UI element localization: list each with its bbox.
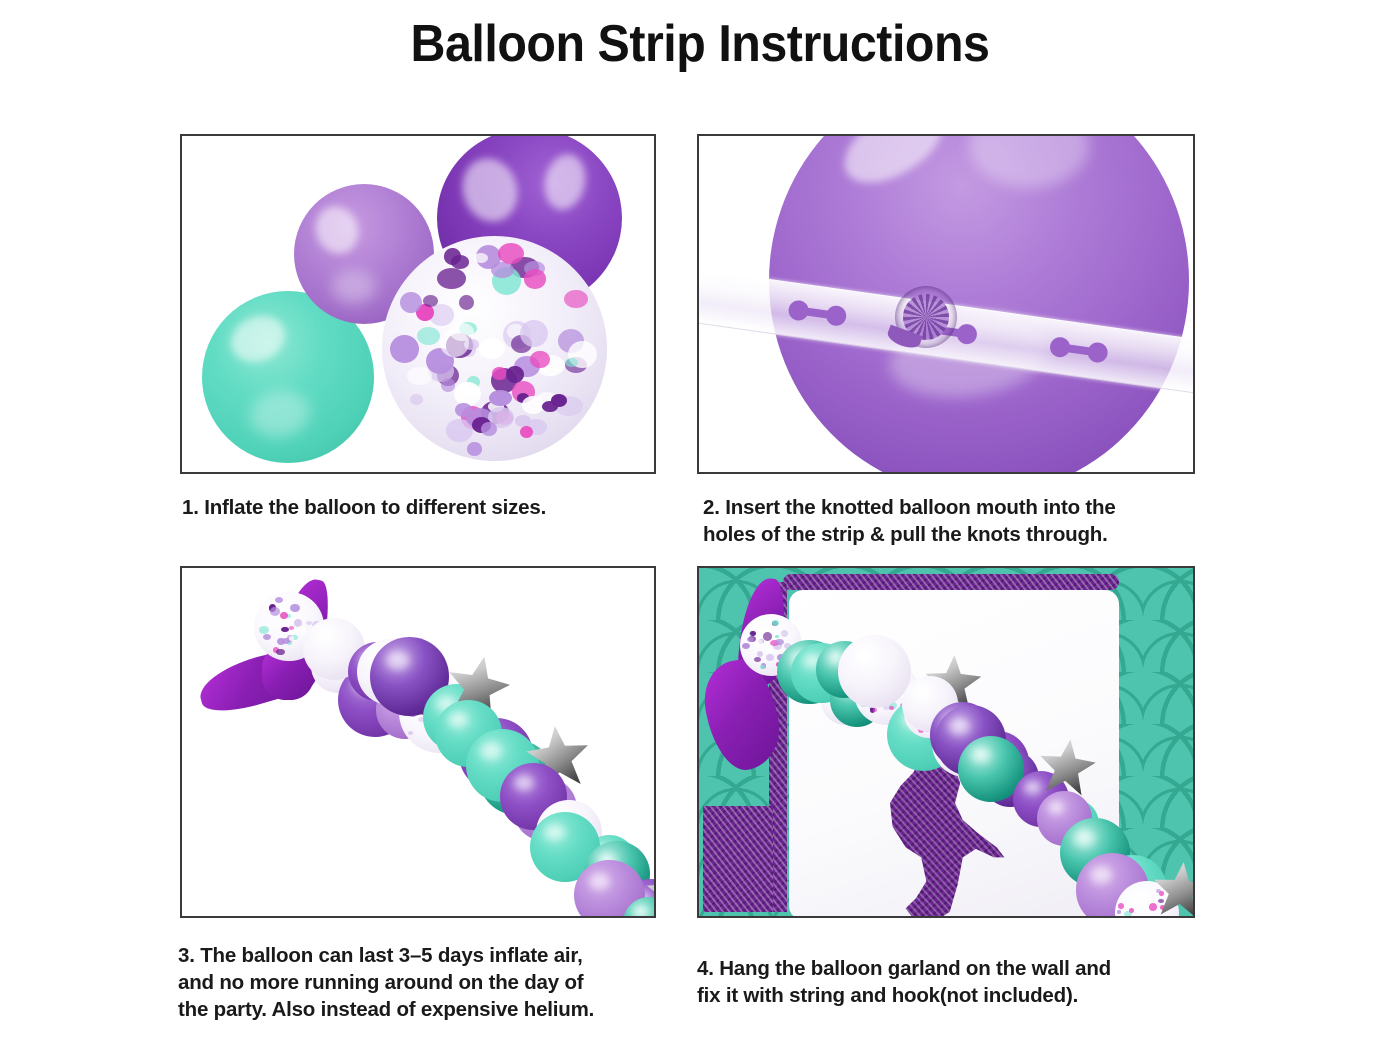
confetti-dot — [459, 295, 474, 310]
confetti-dot — [524, 269, 547, 289]
panel-step-3 — [180, 566, 656, 918]
confetti-dot — [767, 648, 772, 652]
confetti-dot — [479, 338, 505, 360]
confetti-dot — [263, 634, 272, 641]
confetti-dot — [451, 255, 470, 269]
balloon-highlight — [544, 824, 565, 841]
confetti-dot — [1156, 889, 1162, 893]
confetti-dot — [564, 290, 588, 308]
balloon-highlight — [223, 308, 292, 371]
confetti-dot — [481, 422, 497, 436]
confetti-dot — [489, 390, 512, 406]
instruction-sheet: Balloon Strip Instructions 1. Inflate th… — [0, 0, 1400, 1050]
strip-hole — [1049, 336, 1109, 364]
balloon-highlight — [246, 386, 313, 442]
confetti-dot — [889, 706, 894, 710]
confetti-dot — [281, 627, 289, 632]
confetti-dot — [390, 335, 419, 363]
confetti-dot — [437, 268, 466, 289]
confetti-dot — [742, 643, 750, 650]
garland-balloon — [838, 635, 911, 708]
confetti-dot — [1131, 891, 1140, 898]
confetti-dot — [276, 649, 284, 656]
strip-hole — [787, 299, 847, 327]
balloon-highlight — [853, 648, 875, 666]
balloon-highlight — [949, 718, 970, 735]
confetti-dot — [454, 382, 481, 406]
confetti-dot — [772, 620, 779, 626]
confetti-dot — [450, 323, 474, 341]
balloon-highlight — [913, 686, 930, 699]
confetti-dot — [755, 639, 764, 646]
confetti-dot — [775, 639, 783, 645]
confetti-dot — [407, 367, 432, 384]
balloon-knot — [895, 286, 957, 348]
confetti-dot — [410, 394, 423, 405]
confetti-dot — [1118, 903, 1124, 908]
confetti-dot — [760, 665, 765, 670]
confetti-dot — [775, 635, 779, 638]
balloon-highlight — [514, 775, 534, 791]
balloon-highlight — [386, 651, 410, 670]
confetti-dot — [492, 367, 506, 380]
confetti-dot — [774, 627, 779, 631]
confetti-dot — [1149, 916, 1157, 918]
confetti-dot — [275, 597, 283, 603]
panel-step-1 — [180, 134, 656, 474]
balloon-highlight — [315, 629, 334, 644]
balloon-highlight — [1090, 866, 1112, 884]
confetti-dot — [766, 654, 774, 661]
confetti-dot — [441, 378, 455, 391]
confetti-dot — [754, 657, 761, 662]
confetti-dot — [763, 632, 772, 640]
confetti-dot — [1121, 917, 1130, 918]
balloon-highlight — [332, 270, 376, 304]
confetti-dot — [1129, 901, 1137, 907]
balloon-highlight — [1048, 801, 1064, 814]
balloon-garland — [182, 568, 654, 916]
confetti-dot — [520, 320, 548, 347]
confetti-dot — [520, 426, 533, 438]
confetti-dot — [1158, 899, 1164, 903]
confetti-dot — [1149, 903, 1157, 911]
balloon-highlight — [1024, 781, 1041, 794]
confetti-dot — [455, 403, 471, 417]
panel-step-2 — [697, 134, 1195, 474]
balloon-garland — [699, 568, 1193, 916]
balloon-highlight — [448, 712, 468, 728]
caption-step-1: 1. Inflate the balloon to different size… — [182, 494, 682, 521]
balloon-highlight — [480, 742, 502, 760]
confetti-dot — [781, 630, 789, 637]
caption-step-4: 4. Hang the balloon garland on the wall … — [697, 955, 1207, 1009]
confetti-dot — [1117, 910, 1122, 914]
confetti-dot — [408, 731, 413, 735]
confetti-dot — [270, 607, 280, 616]
balloon-highlight — [540, 150, 591, 213]
confetti-dot — [522, 396, 544, 414]
confetti-dot — [750, 631, 756, 636]
caption-step-2: 2. Insert the knotted balloon mouth into… — [703, 494, 1213, 548]
confetti-dot — [1129, 908, 1135, 913]
balloon-highlight — [589, 873, 610, 890]
confetti-dot — [491, 262, 514, 279]
balloon-highlight — [309, 200, 366, 260]
confetti-dot — [530, 351, 550, 369]
confetti-dot — [873, 708, 877, 712]
balloon-highlight — [969, 134, 1089, 188]
confetti-dot — [280, 612, 288, 619]
confetti-dot — [289, 636, 294, 640]
page-title: Balloon Strip Instructions — [49, 14, 1351, 74]
balloon-highlight — [633, 906, 649, 918]
balloon-highlight — [831, 134, 956, 199]
confetti-dot — [747, 637, 754, 642]
balloon-highlight — [454, 151, 525, 229]
confetti-dot — [565, 358, 578, 367]
confetti-dot — [290, 604, 300, 612]
balloon-highlight — [971, 748, 991, 764]
confetti-dot — [1141, 894, 1147, 900]
confetti-balloon — [382, 236, 607, 461]
confetti-dot — [417, 327, 440, 345]
caption-step-3: 3. The balloon can last 3–5 days inflate… — [178, 942, 678, 1023]
garland-balloon — [1160, 916, 1195, 918]
balloon-highlight — [1074, 830, 1095, 847]
confetti-dot — [296, 626, 306, 635]
confetti-dot — [506, 366, 524, 383]
confetti-dot — [467, 442, 481, 456]
panel-step-4 — [697, 566, 1195, 918]
